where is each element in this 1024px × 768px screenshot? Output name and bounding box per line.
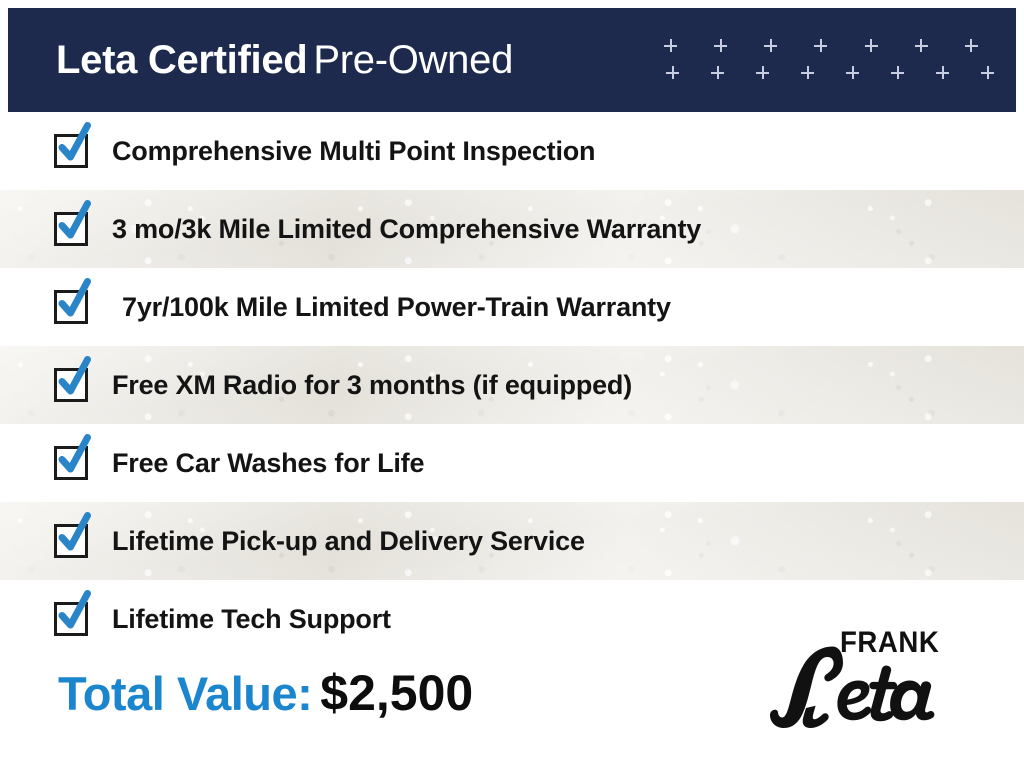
checkbox-checked-icon[interactable] — [54, 134, 88, 168]
plus-icon — [865, 39, 878, 52]
benefit-label: 7yr/100k Mile Limited Power-Train Warran… — [122, 294, 671, 321]
benefit-row: Free Car Washes for Life — [0, 424, 1024, 502]
plus-icon — [814, 39, 827, 52]
benefit-row: Free XM Radio for 3 months (if equipped) — [0, 346, 1024, 424]
checkbox-checked-icon[interactable] — [54, 212, 88, 246]
total-value: Total Value:$2,500 — [58, 668, 473, 718]
plus-pattern-row-top — [664, 39, 994, 55]
plus-icon — [965, 39, 978, 52]
benefit-row: Comprehensive Multi Point Inspection — [0, 112, 1024, 190]
page-title: Leta CertifiedPre-Owned — [56, 40, 513, 80]
logo-leta-script — [762, 642, 962, 734]
benefit-label: Free XM Radio for 3 months (if equipped) — [112, 372, 632, 399]
checkbox-checked-icon[interactable] — [54, 368, 88, 402]
benefit-row: 7yr/100k Mile Limited Power-Train Warran… — [0, 268, 1024, 346]
plus-icon — [756, 66, 769, 79]
plus-icon — [981, 66, 994, 79]
certified-pre-owned-slide: Leta CertifiedPre-Owned — [0, 0, 1024, 768]
benefit-label: Lifetime Tech Support — [112, 606, 391, 633]
plus-icon — [666, 66, 679, 79]
plus-icon — [714, 39, 727, 52]
plus-icon — [764, 39, 777, 52]
benefit-label: Lifetime Pick-up and Delivery Service — [112, 528, 585, 555]
page-title-light: Pre-Owned — [313, 38, 513, 82]
plus-icon — [936, 66, 949, 79]
header-banner: Leta CertifiedPre-Owned — [8, 8, 1016, 112]
benefit-row: Lifetime Pick-up and Delivery Service — [0, 502, 1024, 580]
plus-icon — [915, 39, 928, 52]
plus-icon — [846, 66, 859, 79]
plus-icon — [801, 66, 814, 79]
total-value-label: Total Value: — [58, 667, 312, 720]
plus-icon — [891, 66, 904, 79]
checkbox-checked-icon[interactable] — [54, 524, 88, 558]
plus-pattern-row-bottom — [664, 66, 994, 82]
plus-icon — [664, 39, 677, 52]
benefit-label: 3 mo/3k Mile Limited Comprehensive Warra… — [112, 216, 701, 243]
benefit-label: Comprehensive Multi Point Inspection — [112, 138, 595, 165]
total-value-amount: $2,500 — [320, 665, 473, 721]
page-title-bold: Leta Certified — [56, 38, 307, 82]
checkbox-checked-icon[interactable] — [54, 602, 88, 636]
checkbox-checked-icon[interactable] — [54, 446, 88, 480]
plus-pattern-decoration — [664, 37, 994, 83]
frank-leta-logo: FRANK — [762, 624, 962, 736]
checkbox-checked-icon[interactable] — [54, 290, 88, 324]
benefit-label: Free Car Washes for Life — [112, 450, 424, 477]
benefit-row: 3 mo/3k Mile Limited Comprehensive Warra… — [0, 190, 1024, 268]
plus-icon — [711, 66, 724, 79]
benefit-list: Comprehensive Multi Point Inspection3 mo… — [0, 112, 1024, 658]
